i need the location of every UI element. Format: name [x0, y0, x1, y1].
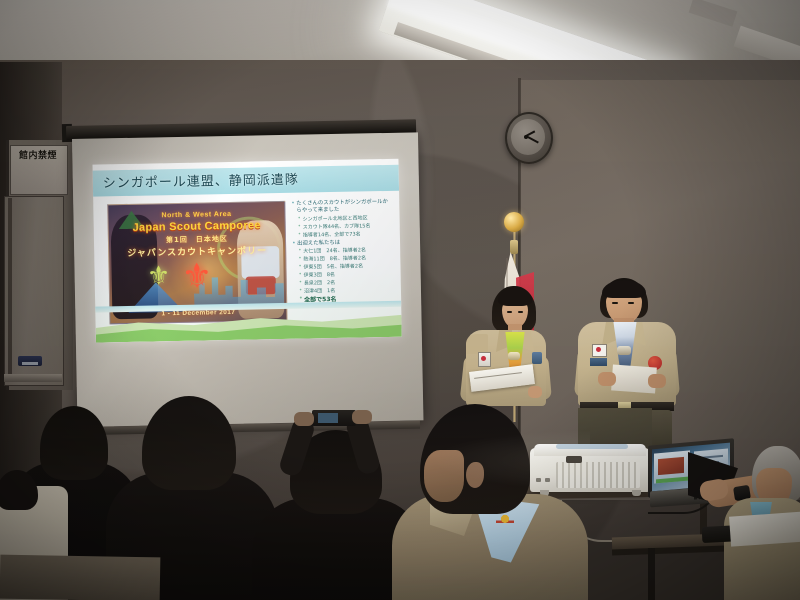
whiteboard-edge — [8, 198, 12, 382]
foreground-scout-face — [424, 450, 464, 502]
camera-screen — [318, 413, 338, 423]
presenter2-eye-right — [628, 302, 634, 304]
whiteboard-eraser-felt — [22, 362, 38, 365]
flag-finial-ball — [504, 212, 524, 232]
projector-lens — [566, 456, 582, 463]
projector-foot — [632, 490, 641, 496]
wall-clock-icon — [505, 112, 553, 164]
laptop-slide-thumbnail[interactable] — [658, 457, 684, 475]
projector-vents — [556, 462, 640, 488]
presenter1-flag-badge-disc — [481, 356, 486, 361]
presenter1-eye-left — [507, 311, 512, 313]
neckerchief-emblem-icon — [496, 512, 514, 530]
room-photo-scene: 館内禁煙 シンガポール連盟、静岡派遣隊 ⚜ ⚜ — [0, 0, 800, 600]
no-smoking-sign-text: 館内禁煙 — [12, 150, 64, 161]
audience-hand-right — [352, 410, 372, 424]
flag-clip — [510, 240, 518, 254]
audience-hand-left — [294, 412, 314, 426]
front-desk — [0, 555, 160, 600]
presenter1-shoulder — [466, 334, 488, 354]
projector-button[interactable] — [545, 478, 550, 482]
presenter2-flag-badge-disc — [596, 347, 601, 352]
projection-screen: シンガポール連盟、静岡派遣隊 ⚜ ⚜ North & West Area Jap… — [72, 132, 423, 427]
foreground-scout-ear — [466, 462, 484, 488]
clock-center-pin — [524, 135, 528, 139]
projector-button[interactable] — [536, 478, 541, 482]
presenter2-hand-right — [648, 374, 666, 388]
desk-leg — [648, 548, 655, 600]
whiteboard-tray — [4, 374, 62, 382]
desk-papers — [729, 511, 800, 546]
presenter1-hand — [528, 386, 542, 398]
presenter1-shoulder-badge — [532, 352, 542, 364]
presenter1-fringe — [498, 288, 532, 306]
presenter2-woggle — [617, 346, 631, 355]
presenter1-eye-right — [518, 311, 523, 313]
projector-top-accent — [556, 444, 628, 449]
presenter2-eye-left — [612, 302, 618, 304]
presenter2-name-strip — [590, 358, 607, 366]
presenter2-hand-left — [598, 372, 616, 386]
presenter1-woggle — [508, 352, 520, 360]
screen-shading — [72, 132, 423, 427]
